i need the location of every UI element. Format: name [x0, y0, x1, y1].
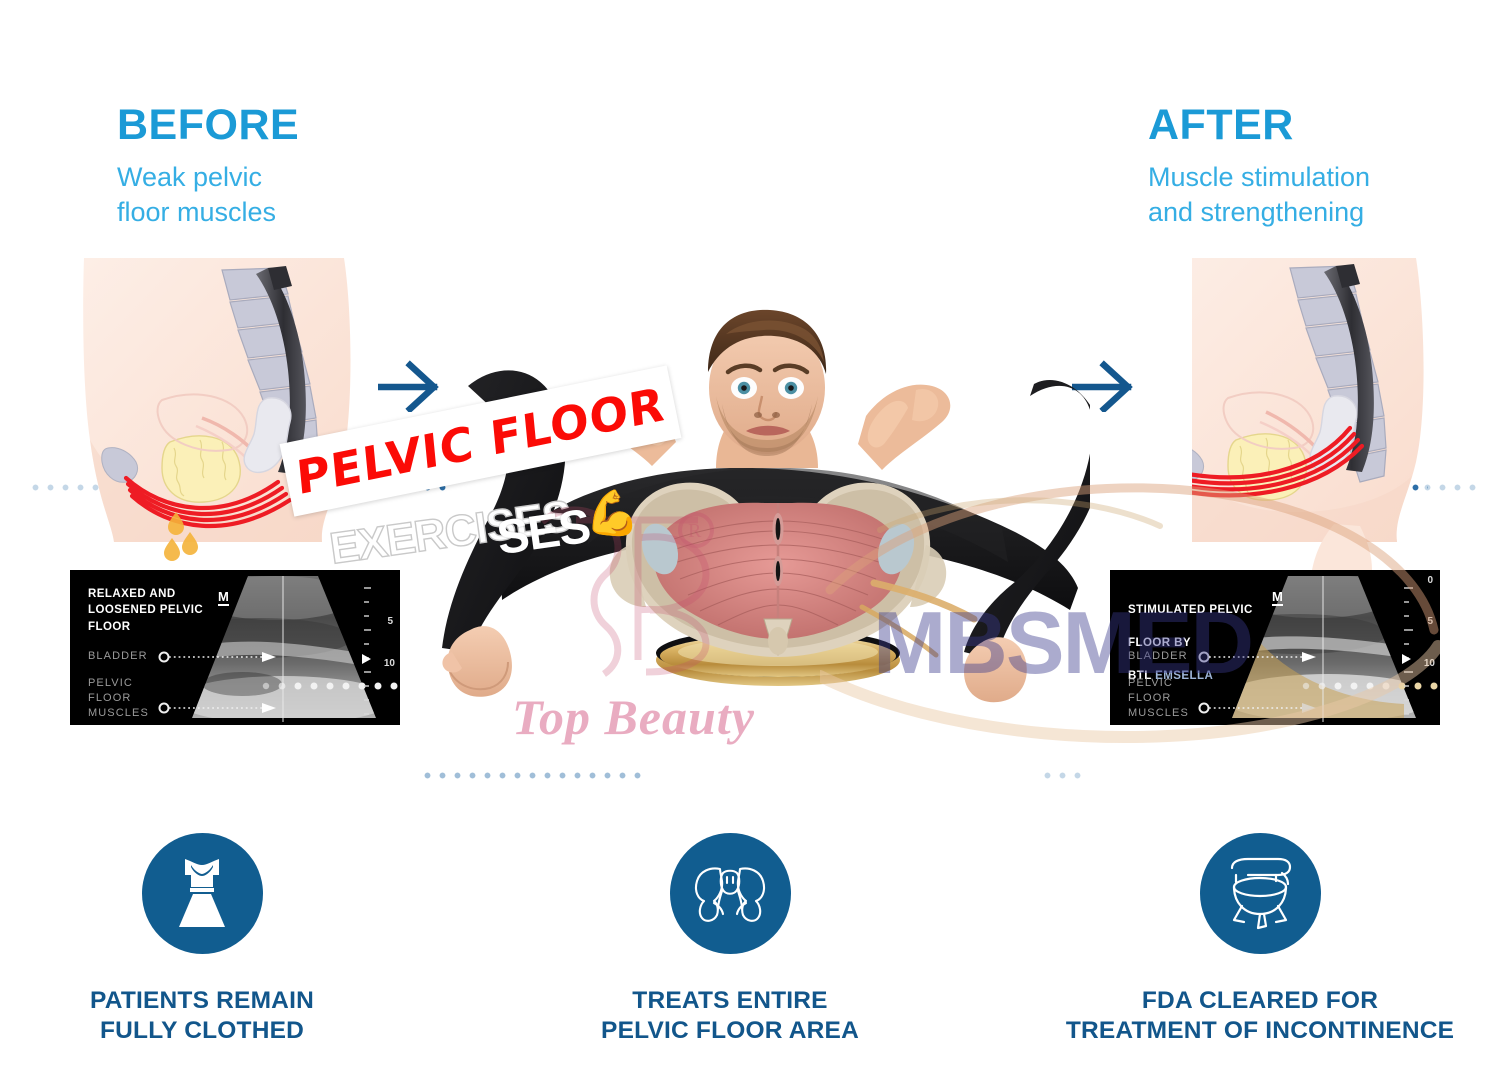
after-heading-block: AFTER Muscle stimulation and strengtheni…	[1148, 104, 1370, 229]
feature-3-label: FDA CLEARED FOR TREATMENT OF INCONTINENC…	[1025, 986, 1495, 1046]
anatomy-after-illustration	[1192, 250, 1500, 570]
feature-patients-clothed: PATIENTS REMAIN FULLY CLOTHED	[42, 833, 362, 1046]
muscles-leader-right	[1198, 701, 1323, 715]
ultrasound-scale-tick-10-right: 10	[1424, 658, 1435, 669]
muscles-leader-left	[158, 701, 283, 715]
ultrasound-scale-tick-0-right: 0	[1427, 575, 1433, 586]
bladder-leader-left	[158, 650, 283, 664]
before-title: BEFORE	[117, 104, 299, 147]
feature-2-label: TREATS ENTIRE PELVIC FLOOR AREA	[530, 986, 930, 1046]
dress-icon	[167, 855, 237, 933]
flexed-biceps-icon: 💪	[585, 492, 640, 536]
ultrasound-title-after: STIMULATED PELVIC FLOOR BY BTL EMSELLA	[1128, 586, 1253, 684]
separator-dotted-mid-right	[1040, 772, 1082, 779]
dress-icon-circle	[142, 833, 263, 954]
chair-icon	[1224, 856, 1296, 932]
feature-fda-cleared: FDA CLEARED FOR TREATMENT OF INCONTINENC…	[1025, 833, 1495, 1046]
before-heading-block: BEFORE Weak pelvic floor muscles	[117, 104, 299, 229]
depth-scale-right	[1400, 578, 1434, 720]
ultrasound-scale-tick-5-right: 5	[1427, 616, 1433, 627]
infographic-page: BEFORE Weak pelvic floor muscles AFTER M…	[0, 0, 1500, 1069]
feature-1-label: PATIENTS REMAIN FULLY CLOTHED	[42, 986, 362, 1046]
ultrasound-scale-tick-10-left: 10	[384, 658, 395, 669]
pelvis-icon-circle	[670, 833, 791, 954]
ultrasound-card-after: STIMULATED PELVIC FLOOR BY BTL EMSELLA M…	[1110, 570, 1440, 725]
pelvis-icon	[692, 863, 768, 925]
after-subtitle: Muscle stimulation and strengthening	[1148, 160, 1370, 229]
ultrasound-mode-mark-left: M	[218, 590, 229, 606]
ultrasound-card-before: RELAXED AND LOOSENED PELVIC FLOOR M BLAD…	[70, 570, 400, 725]
ultrasound-scale-tick-5-left: 5	[387, 616, 393, 627]
feature-treats-entire-pelvic-floor: TREATS ENTIRE PELVIC FLOOR AREA	[530, 833, 930, 1046]
after-title: AFTER	[1148, 104, 1370, 147]
depth-scale-left	[360, 578, 394, 720]
before-subtitle: Weak pelvic floor muscles	[117, 160, 299, 229]
bladder-leader-right	[1198, 650, 1323, 664]
ultrasound-title-before: RELAXED AND LOOSENED PELVIC FLOOR	[88, 586, 203, 635]
ultrasound-label-bladder-left: BLADDER	[88, 649, 148, 664]
chair-icon-circle	[1200, 833, 1321, 954]
ultrasound-title-after-l1: STIMULATED PELVIC	[1128, 604, 1253, 616]
ultrasound-title-after-l2: FLOOR BY	[1128, 637, 1191, 649]
ultrasound-label-muscles-right: PELVIC FLOOR MUSCLES	[1128, 676, 1189, 721]
separator-dotted-mid-left	[420, 772, 645, 779]
ultrasound-label-muscles-left: PELVIC FLOOR MUSCLES	[88, 676, 149, 721]
ultrasound-mode-mark-right: M	[1272, 590, 1283, 606]
ultrasound-label-bladder-right: BLADDER	[1128, 649, 1188, 664]
